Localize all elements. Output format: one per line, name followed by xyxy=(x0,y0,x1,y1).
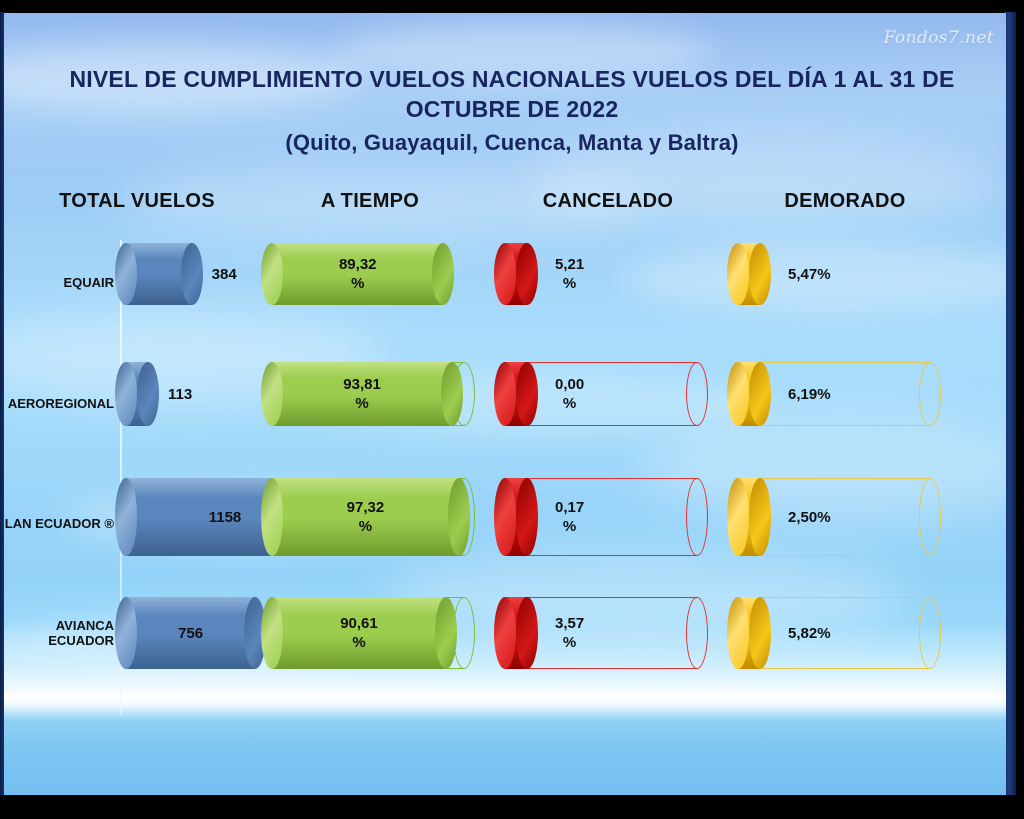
cylinder-cap-left xyxy=(494,597,516,669)
value-line-2: % xyxy=(563,274,576,293)
cylinder-cap-left xyxy=(115,243,137,305)
cylinder-cap-right xyxy=(749,362,771,426)
value-total-vuelos: 756 xyxy=(126,597,255,669)
value-line-1: 756 xyxy=(178,624,203,643)
value-total-vuelos: 113 xyxy=(168,362,192,426)
ghost-cylinder-body xyxy=(760,597,930,669)
cylinder-cap-right xyxy=(516,478,538,556)
value-line-1: 3,57 xyxy=(555,614,584,633)
ghost-cylinder-body xyxy=(527,362,697,426)
bar-remainder-cancelado xyxy=(527,597,697,669)
cylinder-cap-left xyxy=(494,243,516,305)
value-cancelado: 0,17% xyxy=(555,478,584,556)
ghost-cylinder-cap xyxy=(686,478,708,556)
cylinder-cap-left xyxy=(115,362,137,426)
bar-remainder-cancelado xyxy=(527,362,697,426)
ghost-cylinder-cap xyxy=(919,362,941,426)
bar-remainder-demorado xyxy=(760,362,930,426)
value-line-1: 93,81 xyxy=(343,375,381,394)
bar-demorado xyxy=(738,362,760,426)
ghost-cylinder-cap xyxy=(686,597,708,669)
ghost-cylinder-body xyxy=(760,478,930,556)
row-label-airline: LAN ECUADOR ® xyxy=(0,516,114,531)
value-line-1: 384 xyxy=(212,265,237,284)
value-line-2: % xyxy=(351,274,364,293)
value-line-1: 89,32 xyxy=(339,255,377,274)
value-demorado: 5,82% xyxy=(788,597,831,669)
value-demorado: 6,19% xyxy=(788,362,831,426)
value-cancelado: 3,57% xyxy=(555,597,584,669)
ghost-cylinder-body xyxy=(760,362,930,426)
cylinder-cap-right xyxy=(516,597,538,669)
cylinder-cap-right xyxy=(137,362,159,426)
bar-total-vuelos xyxy=(126,243,192,305)
bar-cancelado xyxy=(505,243,527,305)
cylinder-cap-left xyxy=(727,243,749,305)
bar-cancelado xyxy=(505,362,527,426)
ghost-cylinder-cap xyxy=(686,362,708,426)
cylinder-cap-left xyxy=(727,478,749,556)
value-line-2: % xyxy=(563,633,576,652)
bar-remainder-cancelado xyxy=(527,478,697,556)
value-line-2: % xyxy=(563,394,576,413)
value-line-1: 113 xyxy=(168,385,192,404)
bar-cancelado xyxy=(505,478,527,556)
value-line-1: 2,50% xyxy=(788,508,831,527)
value-a-tiempo: 90,61% xyxy=(272,597,446,669)
value-line-1: 5,47% xyxy=(788,265,831,284)
row-label-line-2: ECUADOR xyxy=(0,633,114,648)
value-total-vuelos: 384 xyxy=(212,243,237,305)
value-line-1: 5,82% xyxy=(788,624,831,643)
cylinder-cap-left xyxy=(494,362,516,426)
value-line-1: 6,19% xyxy=(788,385,831,404)
value-cancelado: 5,21% xyxy=(555,243,584,305)
cylinder-cap-right xyxy=(749,478,771,556)
cylinder-cap-left xyxy=(494,478,516,556)
cylinder-cap-right xyxy=(749,243,771,305)
value-line-2: % xyxy=(359,517,372,536)
value-line-2: % xyxy=(352,633,365,652)
value-line-1: 90,61 xyxy=(340,614,378,633)
bar-remainder-demorado xyxy=(760,478,930,556)
value-line-1: 97,32 xyxy=(347,498,385,517)
row-label-airline: AEROREGIONAL xyxy=(0,396,114,411)
chart-plot-area: EQUAIR38489,32%5,21%5,47%AEROREGIONAL113… xyxy=(0,0,1024,819)
value-demorado: 5,47% xyxy=(788,243,831,305)
ghost-cylinder-body xyxy=(527,597,697,669)
cylinder-cap-left xyxy=(727,597,749,669)
bar-demorado xyxy=(738,597,760,669)
value-a-tiempo: 93,81% xyxy=(272,362,452,426)
cylinder-cap-right xyxy=(516,362,538,426)
bar-cancelado xyxy=(505,597,527,669)
bar-demorado xyxy=(738,243,760,305)
cylinder-cap-right xyxy=(516,243,538,305)
cylinder-cap-right xyxy=(181,243,203,305)
poster-frame: Fondos7.net NIVEL DE CUMPLIMIENTO VUELOS… xyxy=(0,0,1024,819)
value-line-2: % xyxy=(563,517,576,536)
cylinder-cap-right xyxy=(749,597,771,669)
value-a-tiempo: 97,32% xyxy=(272,478,459,556)
row-label-airline: EQUAIR xyxy=(0,275,114,290)
value-line-2: % xyxy=(355,394,368,413)
value-line-1: 5,21 xyxy=(555,255,584,274)
ghost-cylinder-cap xyxy=(919,478,941,556)
bar-total-vuelos xyxy=(126,362,148,426)
ghost-cylinder-cap xyxy=(919,597,941,669)
value-cancelado: 0,00% xyxy=(555,362,584,426)
value-a-tiempo: 89,32% xyxy=(272,243,443,305)
bar-remainder-demorado xyxy=(760,597,930,669)
value-line-1: 0,00 xyxy=(555,375,584,394)
value-line-1: 0,17 xyxy=(555,498,584,517)
ghost-cylinder-body xyxy=(527,478,697,556)
value-demorado: 2,50% xyxy=(788,478,831,556)
row-label-line-1: AVIANCA xyxy=(0,618,114,633)
bar-demorado xyxy=(738,478,760,556)
cylinder-cap-left xyxy=(727,362,749,426)
value-line-1: 1158 xyxy=(209,508,242,527)
row-label-airline: AVIANCAECUADOR xyxy=(0,618,114,648)
